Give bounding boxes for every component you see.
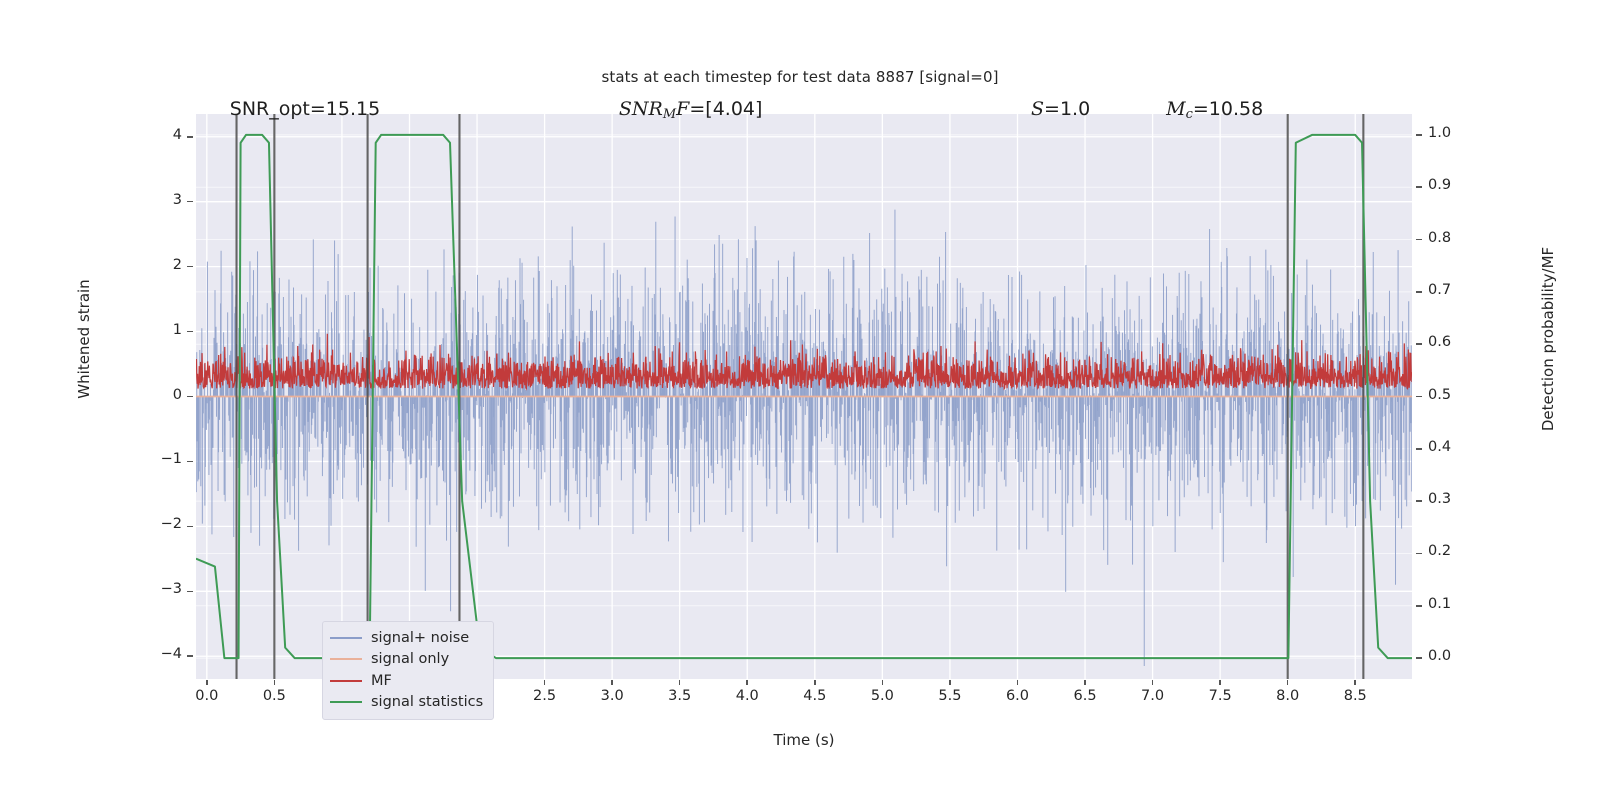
- x-axis-tick-mark: [1219, 680, 1221, 685]
- plot-svg: [196, 114, 1412, 679]
- y-axis-right-tick-mark: [1416, 186, 1422, 188]
- annotation-mc-value: 10.58: [1209, 98, 1263, 120]
- annotation-snr-mf-suffix: ]: [755, 98, 762, 120]
- annotation-s-statistic: S=1.0: [1031, 98, 1090, 120]
- signal-plus-noise-trace: [196, 210, 1412, 666]
- x-axis-tick-mark: [1084, 680, 1086, 685]
- annotation-snr-mf: SNRMF=[4.04]: [619, 98, 763, 122]
- y-axis-right-title: Detection probability/MF: [1539, 189, 1557, 489]
- legend-swatch-icon: [330, 658, 362, 660]
- y-axis-right-tick-mark: [1416, 500, 1422, 502]
- x-axis-tick-label: 5.5: [920, 688, 980, 704]
- x-axis-tick-mark: [611, 680, 613, 685]
- y-axis-left-tick-label: −1: [136, 451, 182, 467]
- x-axis-tick-mark: [1152, 680, 1154, 685]
- legend-swatch-icon: [330, 701, 362, 703]
- y-axis-left-tick-mark: [187, 266, 193, 268]
- legend-entry-label: signal only: [371, 651, 449, 667]
- x-axis-tick-label: 2.5: [515, 688, 575, 704]
- y-axis-right-tick-mark: [1416, 291, 1422, 293]
- y-axis-right-tick-mark: [1416, 605, 1422, 607]
- annotation-snr-opt-value: 15.15: [326, 98, 380, 120]
- x-axis-tick-label: 4.0: [717, 688, 777, 704]
- y-axis-right-tick-mark: [1416, 134, 1422, 136]
- x-axis-tick-mark: [882, 680, 884, 685]
- legend-entry-4[interactable]: signal statistics: [330, 692, 486, 714]
- y-axis-right-tick-mark: [1416, 343, 1422, 345]
- y-axis-right-tick-mark: [1416, 396, 1422, 398]
- x-axis-tick-mark: [746, 680, 748, 685]
- y-axis-right-tick-label: 0.4: [1428, 439, 1478, 455]
- annotation-snr-mf-prefix: SNR: [619, 98, 663, 120]
- annotation-s-value: 1.0: [1060, 98, 1090, 120]
- y-axis-right-tick-label: 0.9: [1428, 177, 1478, 193]
- annotation-snr-mf-mid: F: [676, 98, 689, 120]
- y-axis-left-tick-label: 3: [136, 192, 182, 208]
- x-axis-title: Time (s): [196, 731, 1412, 749]
- annotation-snr-mf-value: 4.04: [713, 98, 755, 120]
- x-axis-tick-label: 0.0: [177, 688, 237, 704]
- y-axis-left-tick-label: 2: [136, 257, 182, 273]
- annotation-snr-opt: SNR_opt=15.15: [230, 98, 380, 120]
- x-axis-tick-mark: [544, 680, 546, 685]
- y-axis-left-tick-label: 4: [136, 127, 182, 143]
- legend-entry-2[interactable]: signal only: [330, 649, 486, 671]
- y-axis-left-tick-mark: [187, 396, 193, 398]
- y-axis-right-tick-mark: [1416, 553, 1422, 555]
- annotation-snr-mf-sub: M: [663, 107, 676, 122]
- y-axis-right-tick-label: 0.3: [1428, 491, 1478, 507]
- x-axis-tick-label: 5.0: [852, 688, 912, 704]
- y-axis-left-tick-label: 1: [136, 322, 182, 338]
- annotation-mc-sub: c: [1186, 107, 1193, 122]
- x-axis-tick-mark: [814, 680, 816, 685]
- y-axis-right-tick-label: 1.0: [1428, 125, 1478, 141]
- y-axis-left-tick-mark: [187, 461, 193, 463]
- x-axis-tick-mark: [1354, 680, 1356, 685]
- y-axis-right-tick-label: 0.0: [1428, 648, 1478, 664]
- y-axis-right-tick-label: 0.8: [1428, 230, 1478, 246]
- legend-swatch-icon: [330, 680, 362, 682]
- annotation-snr-mf-eq: =[: [689, 98, 712, 120]
- y-axis-left-tick-mark: [187, 201, 193, 203]
- x-axis-tick-label: 4.5: [785, 688, 845, 704]
- y-axis-right-tick-mark: [1416, 239, 1422, 241]
- y-axis-left-tick-label: 0: [136, 387, 182, 403]
- legend-entry-3[interactable]: MF: [330, 670, 486, 692]
- plot-axes-area[interactable]: [196, 114, 1412, 679]
- y-axis-right-tick-label: 0.5: [1428, 387, 1478, 403]
- x-axis-tick-label: 3.5: [650, 688, 710, 704]
- y-axis-left-tick-label: −2: [136, 516, 182, 532]
- y-axis-left-tick-mark: [187, 655, 193, 657]
- x-axis-tick-label: 7.0: [1123, 688, 1183, 704]
- x-axis-tick-label: 0.5: [244, 688, 304, 704]
- y-axis-right-tick-label: 0.7: [1428, 282, 1478, 298]
- annotation-s-eq: =: [1044, 98, 1060, 120]
- x-axis-tick-mark: [679, 680, 681, 685]
- y-axis-right-tick-label: 0.1: [1428, 596, 1478, 612]
- annotation-mc-symbol: M: [1166, 98, 1185, 120]
- legend-entry-label: MF: [371, 673, 392, 689]
- annotation-mc-eq: =: [1193, 98, 1209, 120]
- x-axis-tick-label: 3.0: [582, 688, 642, 704]
- legend-entry-label: signal+ noise: [371, 630, 469, 646]
- y-axis-left-tick-mark: [187, 591, 193, 593]
- annotation-chirp-mass: Mc=10.58: [1166, 98, 1263, 122]
- y-axis-left-tick-mark: [187, 526, 193, 528]
- y-axis-left-tick-label: −4: [136, 646, 182, 662]
- x-axis-tick-mark: [1017, 680, 1019, 685]
- legend-entry-label: signal statistics: [371, 694, 483, 710]
- legend-swatch-icon: [330, 637, 362, 639]
- x-axis-tick-label: 8.0: [1258, 688, 1318, 704]
- figure-canvas: stats at each timestep for test data 888…: [0, 0, 1600, 800]
- annotation-snr-opt-label: SNR_opt=: [230, 98, 326, 120]
- legend-entry-1[interactable]: signal+ noise: [330, 627, 486, 649]
- y-axis-left-tick-label: −3: [136, 581, 182, 597]
- y-axis-right-tick-label: 0.2: [1428, 543, 1478, 559]
- y-axis-right-tick-mark: [1416, 657, 1422, 659]
- y-axis-left-title: Whitened strain: [75, 209, 93, 469]
- y-axis-right-tick-label: 0.6: [1428, 334, 1478, 350]
- figure-title: stats at each timestep for test data 888…: [0, 68, 1600, 86]
- x-axis-tick-label: 6.5: [1055, 688, 1115, 704]
- y-axis-left-tick-mark: [187, 136, 193, 138]
- plot-legend[interactable]: signal+ noisesignal onlyMFsignal statist…: [322, 621, 494, 720]
- x-axis-tick-mark: [949, 680, 951, 685]
- x-axis-tick-label: 6.0: [987, 688, 1047, 704]
- x-axis-tick-label: 8.5: [1325, 688, 1385, 704]
- y-axis-left-tick-mark: [187, 331, 193, 333]
- x-axis-tick-label: 7.5: [1190, 688, 1250, 704]
- y-axis-right-tick-mark: [1416, 448, 1422, 450]
- x-axis-tick-mark: [206, 680, 208, 685]
- x-axis-tick-mark: [274, 680, 276, 685]
- x-axis-tick-mark: [1287, 680, 1289, 685]
- annotation-s-symbol: S: [1031, 98, 1044, 120]
